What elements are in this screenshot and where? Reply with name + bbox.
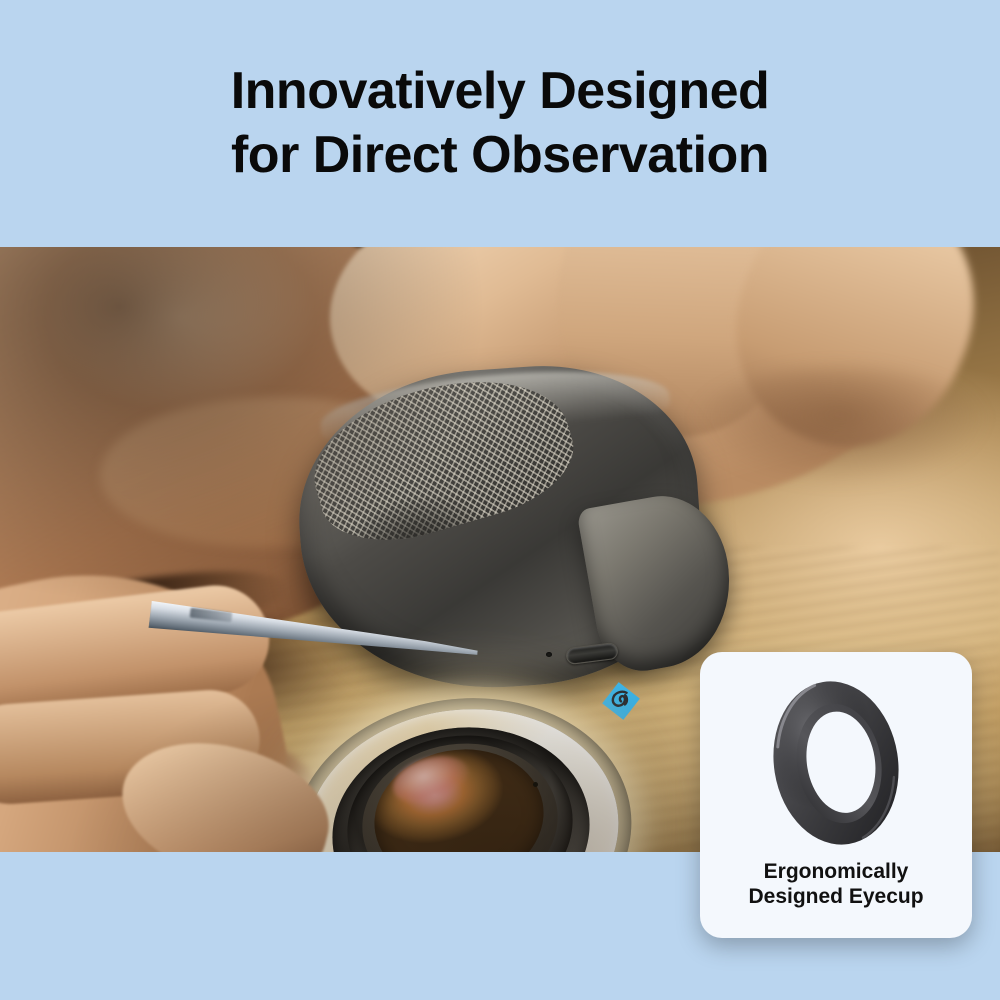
headline-line-2: for Direct Observation [231,124,769,187]
eyecup-product-image [741,668,931,858]
headline-banner: Innovatively Designed for Direct Observa… [0,0,1000,247]
feature-card-caption: Ergonomically Designed Eyecup [748,860,923,910]
caption-line-2: Designed Eyecup [748,885,923,910]
headline-line-1: Innovatively Designed [231,60,770,123]
product-feature-page: Innovatively Designed for Direct Observa… [0,0,1000,1000]
feature-card-eyecup[interactable]: Ergonomically Designed Eyecup [700,652,972,938]
caption-line-1: Ergonomically [748,860,923,885]
